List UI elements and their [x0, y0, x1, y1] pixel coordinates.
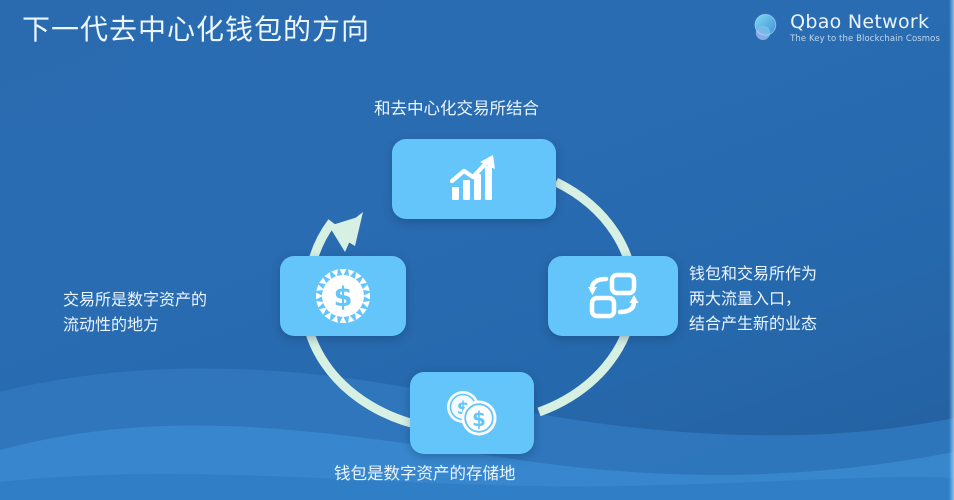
cycle-node-top[interactable]	[392, 139, 556, 219]
cycle-label-right: 钱包和交易所作为 两大流量入口， 结合产生新的业态	[689, 261, 817, 336]
bar-chart-growth-icon	[446, 153, 502, 205]
dollar-coins-icon: $ $	[440, 386, 504, 440]
dollar-badge-icon: $	[315, 268, 371, 324]
cycle-label-bottom: 钱包是数字资产的存储地	[334, 461, 516, 486]
cycle-diagram: $ $	[0, 0, 954, 500]
cycle-label-left: 交易所是数字资产的 流动性的地方	[63, 287, 207, 337]
svg-text:$: $	[472, 407, 486, 431]
slide-canvas: 下一代去中心化钱包的方向 Qbao Network The Key to the…	[0, 0, 954, 500]
cycle-node-left[interactable]: $	[280, 256, 406, 336]
cycle-label-top: 和去中心化交易所结合	[374, 96, 539, 121]
cycle-node-right[interactable]	[548, 256, 678, 336]
cycle-node-bottom[interactable]: $ $	[410, 372, 534, 454]
exchange-swap-icon	[586, 271, 640, 321]
svg-text:$: $	[334, 282, 353, 313]
